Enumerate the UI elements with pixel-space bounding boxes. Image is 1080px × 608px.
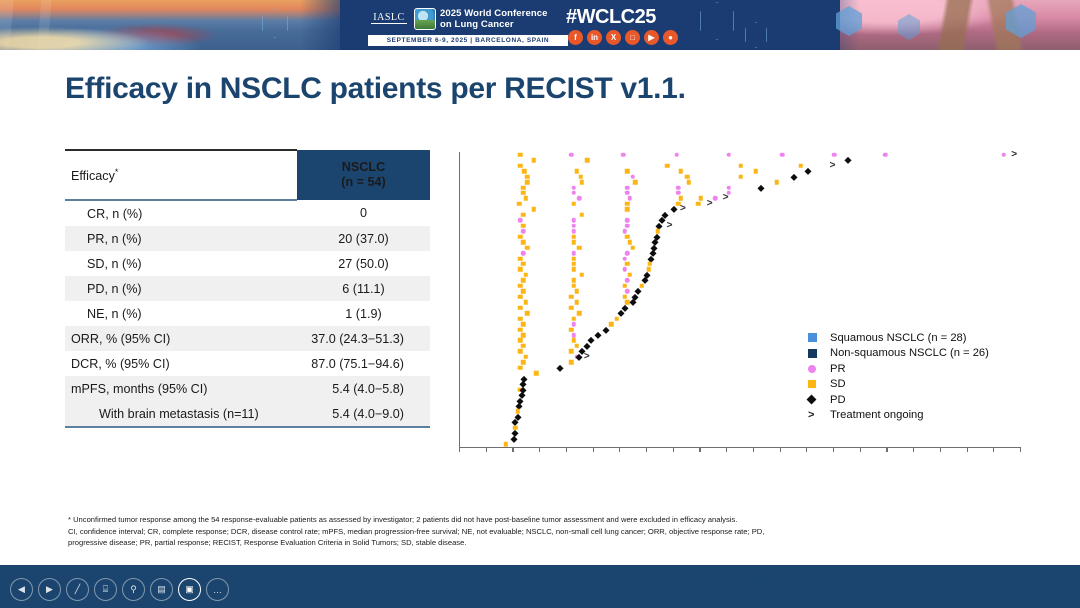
- response-marker-sd: [577, 311, 582, 316]
- table-header-asterisk: *: [115, 167, 119, 177]
- iaslc-rule: [371, 23, 407, 24]
- banner-photo-barcelona-left: [0, 0, 340, 50]
- swimmer-bar-row: [467, 377, 528, 381]
- swimmer-bar-row: [467, 388, 526, 392]
- legend-swatch-ongoing: >: [808, 409, 830, 421]
- table-cell-value: 87.0 (75.1−94.6): [297, 351, 430, 376]
- slide-root: IASLC 2025 World Conference on Lung Canc…: [0, 0, 1080, 608]
- swimmer-bar-row: [467, 404, 523, 408]
- x-axis-tick: [806, 447, 807, 452]
- response-marker-pr: [521, 229, 526, 234]
- x-axis-tick: [753, 447, 754, 452]
- response-marker-sd: [686, 180, 691, 185]
- legend-label-pr: PR: [830, 363, 846, 375]
- swimmer-bar-row: [467, 218, 667, 222]
- response-marker-sd: [518, 256, 523, 261]
- response-marker-sd: [585, 158, 590, 163]
- table-header-nsclc: NSCLC (n = 54): [297, 150, 430, 200]
- social-icons-row: f in X □ ▶ ●: [568, 30, 678, 45]
- table-cell-label: DCR, % (95% CI): [65, 351, 297, 376]
- response-marker-pr: [780, 152, 785, 157]
- swimmer-bar-row: [467, 311, 625, 315]
- page-title: Efficacy in NSCLC patients per RECIST v1…: [65, 72, 965, 106]
- response-marker-sd: [696, 202, 701, 207]
- table-header-efficacy-label: Efficacy: [71, 169, 115, 183]
- response-marker-sd: [614, 316, 619, 321]
- table-cell-label: PR, n (%): [65, 226, 297, 251]
- legend-label-squamous: Squamous NSCLC (n = 28): [830, 332, 967, 344]
- hexagon-outline-icon: [700, 2, 734, 40]
- x-axis-tick: [486, 447, 487, 452]
- response-marker-sd: [580, 213, 585, 218]
- response-marker-sd: [521, 278, 526, 283]
- response-marker-pr: [622, 267, 627, 272]
- legend-item-pr: PR: [808, 361, 989, 377]
- response-marker-sd: [534, 371, 539, 376]
- response-marker-pd: [844, 157, 850, 163]
- swimmer-bar-row: >: [467, 196, 721, 200]
- response-marker-sd: [525, 174, 530, 179]
- linkedin-icon[interactable]: in: [587, 30, 602, 45]
- response-marker-sd: [532, 158, 537, 163]
- swimmer-bar-row: [467, 393, 524, 397]
- table-cell-value: 6 (11.1): [297, 276, 430, 301]
- x-twitter-icon[interactable]: X: [606, 30, 621, 45]
- conference-name-line2: on Lung Cancer: [440, 19, 548, 30]
- response-marker-sd: [630, 245, 635, 250]
- table-cell-label: PD, n (%): [65, 276, 297, 301]
- response-marker-pd: [512, 419, 518, 425]
- pen-tool-button[interactable]: ╱: [66, 578, 89, 601]
- response-marker-sd: [525, 245, 530, 250]
- response-marker-sd: [518, 234, 523, 239]
- efficacy-table: Efficacy* NSCLC (n = 54) CR, n (%)0PR, n…: [65, 149, 430, 428]
- response-marker-pr: [628, 196, 633, 201]
- table-header-row: Efficacy* NSCLC (n = 54): [65, 150, 430, 200]
- response-marker-sd: [775, 180, 780, 185]
- response-marker-sd: [698, 196, 703, 201]
- response-marker-pr: [572, 224, 577, 229]
- response-marker-sd: [572, 267, 577, 272]
- conference-banner: IASLC 2025 World Conference on Lung Canc…: [0, 0, 1080, 50]
- response-marker-pd: [576, 354, 582, 360]
- response-marker-pr: [572, 191, 577, 196]
- response-marker-pr: [676, 185, 681, 190]
- x-axis-tick: [1020, 447, 1021, 452]
- response-marker-pd: [648, 255, 654, 261]
- response-marker-sd: [518, 349, 523, 354]
- treatment-ongoing-arrow-icon: >: [830, 164, 836, 168]
- swimmer-bar-row: [467, 191, 734, 195]
- response-marker-sd: [569, 295, 574, 300]
- table-cell-label: With brain metastasis (n=11): [65, 401, 297, 427]
- response-marker-sd: [572, 240, 577, 245]
- swimmer-bar-row: [467, 235, 661, 239]
- response-marker-sd: [572, 262, 577, 267]
- swimmer-bar-row: >: [467, 164, 828, 168]
- legend-label-ongoing: Treatment ongoing: [830, 409, 924, 421]
- response-marker-sd: [625, 234, 630, 239]
- response-marker-sd: [572, 234, 577, 239]
- instagram-icon[interactable]: □: [625, 30, 640, 45]
- response-marker-pr: [622, 229, 627, 234]
- x-axis-tick: [967, 447, 968, 452]
- swimmer-bar-row: [467, 431, 518, 435]
- more-options-button[interactable]: …: [206, 578, 229, 601]
- iaslc-logo: IASLC 2025 World Conference on Lung Canc…: [368, 5, 568, 47]
- response-marker-sd: [521, 224, 526, 229]
- swimmer-bar-row: >: [467, 224, 665, 228]
- response-marker-sd: [524, 300, 529, 305]
- legend-swatch-squamous: [808, 333, 830, 342]
- bottom-bar-pill-right: [880, 565, 1080, 597]
- response-marker-pd: [595, 332, 601, 338]
- response-marker-sd: [518, 366, 523, 371]
- swimmer-bar-row: [467, 262, 654, 266]
- response-marker-sd: [569, 349, 574, 354]
- response-marker-sd: [648, 262, 653, 267]
- response-marker-sd: [685, 174, 690, 179]
- notes-button[interactable]: ▤: [150, 578, 173, 601]
- x-axis-line: [459, 447, 1020, 448]
- table-header-efficacy: Efficacy*: [65, 150, 297, 200]
- treatment-ongoing-arrow-icon: >: [584, 355, 590, 359]
- response-marker-sd: [518, 305, 523, 310]
- response-marker-sd: [572, 338, 577, 343]
- swimmer-bar-row: [467, 333, 601, 337]
- response-marker-sd: [525, 311, 530, 316]
- response-marker-pr: [572, 322, 577, 327]
- swimmer-bar-row: [467, 420, 520, 424]
- x-axis-tick: [726, 447, 727, 452]
- response-marker-pr: [676, 191, 681, 196]
- response-marker-pd: [511, 436, 517, 442]
- response-marker-sd: [580, 273, 585, 278]
- response-marker-sd: [622, 284, 627, 289]
- treatment-ongoing-arrow-icon: >: [723, 196, 729, 200]
- x-axis-tick: [860, 447, 861, 452]
- table-row: mPFS, months (95% CI)5.4 (4.0−5.8): [65, 376, 430, 401]
- conference-url[interactable]: wclc.iaslc.org: [690, 570, 880, 586]
- legend-item-sd: SD: [808, 377, 989, 393]
- x-axis-tick: [566, 447, 567, 452]
- swimmer-plot-chart: >>>>>>> 02040608010012014016018020022024…: [452, 152, 1020, 487]
- response-marker-pd: [629, 299, 635, 305]
- response-marker-sd: [625, 202, 630, 207]
- swimmer-bar-row: [467, 399, 523, 403]
- next-slide-button[interactable]: ▶: [38, 578, 61, 601]
- legend-item-ongoing: > Treatment ongoing: [808, 408, 989, 424]
- response-marker-sd: [574, 169, 579, 174]
- swimmer-bar-row: [467, 251, 657, 255]
- legend-label-nonsquamous: Non-squamous NSCLC (n = 26): [830, 347, 989, 359]
- response-marker-pr: [727, 185, 732, 190]
- swimmer-bar-row: [467, 344, 590, 348]
- swimmer-bar-row: [467, 306, 630, 310]
- response-marker-sd: [518, 267, 523, 272]
- response-marker-sd: [569, 327, 574, 332]
- swimmer-bar-row: [467, 300, 635, 304]
- legend-swatch-sd: [808, 380, 830, 388]
- treatment-ongoing-arrow-icon: >: [1011, 153, 1017, 157]
- response-marker-pr: [577, 196, 582, 201]
- response-marker-sd: [524, 196, 529, 201]
- response-marker-sd: [521, 322, 526, 327]
- swimmer-bar-row: [467, 437, 516, 441]
- swimmer-bar-row: [467, 371, 547, 375]
- response-marker-sd: [521, 191, 526, 196]
- table-row: CR, n (%)0: [65, 200, 430, 226]
- response-marker-sd: [574, 300, 579, 305]
- table-cell-value: 5.4 (4.0−5.8): [297, 376, 430, 401]
- response-marker-pr: [625, 224, 630, 229]
- response-marker-pr: [625, 191, 630, 196]
- globe-icon: [414, 8, 436, 30]
- swimmer-bar-row: [467, 169, 812, 173]
- x-axis-tick: [833, 447, 834, 452]
- response-marker-pd: [557, 365, 563, 371]
- previous-slide-button[interactable]: ◀: [10, 578, 33, 601]
- response-marker-sd: [517, 202, 522, 207]
- response-marker-pd: [635, 288, 641, 294]
- table-cell-value: 27 (50.0): [297, 251, 430, 276]
- response-marker-sd: [518, 327, 523, 332]
- response-marker-sd: [518, 295, 523, 300]
- legend-item-pd: PD: [808, 392, 989, 408]
- x-axis-tick: [512, 447, 513, 452]
- table-cell-label: ORR, % (95% CI): [65, 326, 297, 351]
- response-marker-sd: [532, 207, 537, 212]
- iaslc-acronym: IASLC: [368, 13, 410, 22]
- response-marker-pr: [625, 185, 630, 190]
- legend-swatch-nonsquamous: [808, 349, 830, 358]
- swimmer-bar-row: [467, 278, 649, 282]
- table-row: DCR, % (95% CI)87.0 (75.1−94.6): [65, 351, 430, 376]
- response-marker-sd: [622, 295, 627, 300]
- response-marker-sd: [625, 300, 630, 305]
- swimmer-bar-row: [467, 175, 798, 179]
- response-marker-sd: [609, 322, 614, 327]
- response-marker-sd: [678, 196, 683, 201]
- response-marker-sd: [640, 284, 645, 289]
- footnote-line-3: progressive disease; PR, partial respons…: [68, 537, 1018, 549]
- slide-layout-button[interactable]: ⌸: [94, 578, 117, 601]
- response-marker-sd: [569, 360, 574, 365]
- response-marker-sd: [518, 163, 523, 168]
- response-marker-sd: [580, 180, 585, 185]
- legend-label-sd: SD: [830, 378, 846, 390]
- response-marker-pr: [518, 218, 523, 223]
- iaslc-wordmark: IASLC: [368, 13, 410, 24]
- table-row: ORR, % (95% CI)37.0 (24.3−51.3): [65, 326, 430, 351]
- banner-photo-barcelona-right: [840, 0, 1080, 50]
- response-marker-pr: [572, 333, 577, 338]
- response-marker-sd: [521, 333, 526, 338]
- swimmer-bar-row: [467, 415, 520, 419]
- response-marker-sd: [633, 180, 638, 185]
- response-marker-pr: [572, 185, 577, 190]
- table-cell-label: NE, n (%): [65, 301, 297, 326]
- response-marker-pd: [584, 343, 590, 349]
- swimmer-bar-row: >: [467, 202, 705, 206]
- response-marker-pr: [521, 251, 526, 256]
- swimmer-bar-row: [467, 382, 527, 386]
- legend-swatch-pr: [808, 365, 830, 373]
- record-video-button[interactable]: ▣: [178, 578, 201, 601]
- response-marker-pr: [572, 229, 577, 234]
- response-marker-pd: [516, 403, 522, 409]
- treatment-ongoing-arrow-icon: >: [707, 202, 713, 206]
- legend-swatch-pd: [808, 396, 830, 403]
- table-header-nsclc-line1: NSCLC: [303, 160, 424, 175]
- response-marker-sd: [572, 316, 577, 321]
- swimmer-bar-row: >: [467, 153, 1009, 157]
- x-axis-tick: [940, 447, 941, 452]
- response-marker-pr: [625, 218, 630, 223]
- swimmer-bar-row: >: [467, 207, 678, 211]
- footnote-line-2: CI, confidence interval; CR, complete re…: [68, 526, 1018, 538]
- response-marker-sd: [521, 240, 526, 245]
- swimmer-bar-row: [467, 328, 611, 332]
- response-marker-pr: [1002, 152, 1007, 157]
- response-marker-pd: [588, 337, 594, 343]
- response-marker-sd: [572, 202, 577, 207]
- table-row: PD, n (%)6 (11.1): [65, 276, 430, 301]
- response-marker-sd: [678, 169, 683, 174]
- legend-label-pd: PD: [830, 394, 846, 406]
- response-marker-pr: [572, 251, 577, 256]
- swimmer-bar-row: [467, 180, 785, 184]
- response-marker-sd: [572, 278, 577, 283]
- swimmer-bar-row: [467, 322, 617, 326]
- conference-name: 2025 World Conference on Lung Cancer: [440, 8, 548, 30]
- swimmer-bar-row: [467, 267, 653, 271]
- swimmer-bar-row: [467, 273, 651, 277]
- table-cell-value: 1 (1.9): [297, 301, 430, 326]
- table-cell-label: CR, n (%): [65, 200, 297, 226]
- swimmer-bar-row: [467, 366, 566, 370]
- response-marker-sd: [799, 163, 804, 168]
- treatment-ongoing-arrow-icon: >: [667, 224, 673, 228]
- table-cell-label: SD, n (%): [65, 251, 297, 276]
- response-marker-pd: [804, 168, 810, 174]
- response-marker-pr: [713, 196, 718, 201]
- x-axis-tick: [886, 447, 887, 452]
- x-axis-tick: [673, 447, 674, 452]
- hexagon-outline-icon: [745, 22, 767, 48]
- response-marker-sd: [628, 240, 633, 245]
- facebook-icon[interactable]: f: [568, 30, 583, 45]
- response-marker-pr: [625, 251, 630, 256]
- response-marker-sd: [578, 174, 583, 179]
- response-marker-sd: [518, 338, 523, 343]
- youtube-icon[interactable]: ▶: [644, 30, 659, 45]
- response-marker-sd: [503, 442, 508, 447]
- table-row: With brain metastasis (n=11)5.4 (4.0−9.0…: [65, 401, 430, 427]
- swimmer-bar-row: [467, 338, 595, 342]
- swimmer-bar-row: [467, 257, 655, 261]
- response-marker-sd: [521, 185, 526, 190]
- response-marker-sd: [628, 273, 633, 278]
- response-marker-sd: [521, 360, 526, 365]
- response-marker-pr: [625, 289, 630, 294]
- response-marker-sd: [577, 245, 582, 250]
- response-marker-sd: [574, 289, 579, 294]
- response-marker-pr: [883, 152, 888, 157]
- conference-hashtag: #WCLC25: [566, 6, 656, 29]
- x-axis-tick: [539, 447, 540, 452]
- response-marker-sd: [525, 180, 530, 185]
- swimmer-bar-row: [467, 426, 519, 430]
- table-header-nsclc-line2: (n = 54): [303, 175, 424, 190]
- swimmer-bar-row: [467, 442, 508, 446]
- x-axis-tick: [646, 447, 647, 452]
- response-marker-sd: [753, 169, 758, 174]
- swimmer-bar-row: [467, 246, 658, 250]
- response-marker-sd: [572, 256, 577, 261]
- response-marker-pd: [621, 305, 627, 311]
- swimmer-bar-row: [467, 360, 577, 364]
- swimmer-bar-row: [467, 158, 850, 162]
- x-axis-tick: [619, 447, 620, 452]
- response-marker-pr: [674, 152, 679, 157]
- response-marker-sd: [518, 316, 523, 321]
- response-marker-pr: [569, 152, 574, 157]
- response-marker-sd: [739, 174, 744, 179]
- swimmer-bar-row: [467, 317, 622, 321]
- response-marker-pr: [572, 218, 577, 223]
- response-marker-sd: [625, 207, 630, 212]
- response-marker-sd: [521, 289, 526, 294]
- response-marker-pd: [603, 326, 609, 332]
- response-marker-sd: [521, 344, 526, 349]
- response-marker-sd: [524, 273, 529, 278]
- response-marker-sd: [625, 262, 630, 267]
- legend-item-squamous: Squamous NSCLC (n = 28): [808, 330, 989, 346]
- table-cell-value: 20 (37.0): [297, 226, 430, 251]
- treatment-ongoing-arrow-icon: >: [680, 207, 686, 211]
- table-cell-value: 5.4 (4.0−9.0): [297, 401, 430, 427]
- response-marker-sd: [569, 305, 574, 310]
- response-marker-sd: [625, 169, 630, 174]
- wechat-icon[interactable]: ●: [663, 30, 678, 45]
- table-row: SD, n (%)27 (50.0): [65, 251, 430, 276]
- response-marker-pd: [671, 206, 677, 212]
- response-marker-pd: [758, 184, 764, 190]
- response-marker-sd: [524, 355, 529, 360]
- legend-item-nonsquamous: Non-squamous NSCLC (n = 26): [808, 346, 989, 362]
- zoom-search-button[interactable]: ⚲: [122, 578, 145, 601]
- x-axis-tick: [593, 447, 594, 452]
- table-cell-value: 0: [297, 200, 430, 226]
- response-marker-sd: [518, 284, 523, 289]
- x-axis-tick: [459, 447, 460, 452]
- response-marker-pr: [727, 152, 732, 157]
- response-marker-pr: [621, 152, 626, 157]
- swimmer-bar-row: [467, 349, 585, 353]
- swimmer-bar-row: [467, 186, 766, 190]
- x-axis-tick: [780, 447, 781, 452]
- x-axis-tick: [993, 447, 994, 452]
- response-marker-sd: [521, 213, 526, 218]
- conference-name-line1: 2025 World Conference: [440, 8, 548, 19]
- table-cell-value: 37.0 (24.3−51.3): [297, 326, 430, 351]
- table-cell-label: mPFS, months (95% CI): [65, 376, 297, 401]
- swimmer-bar-row: [467, 289, 641, 293]
- response-marker-sd: [572, 284, 577, 289]
- response-marker-pr: [625, 278, 630, 283]
- x-axis-tick: [699, 447, 700, 452]
